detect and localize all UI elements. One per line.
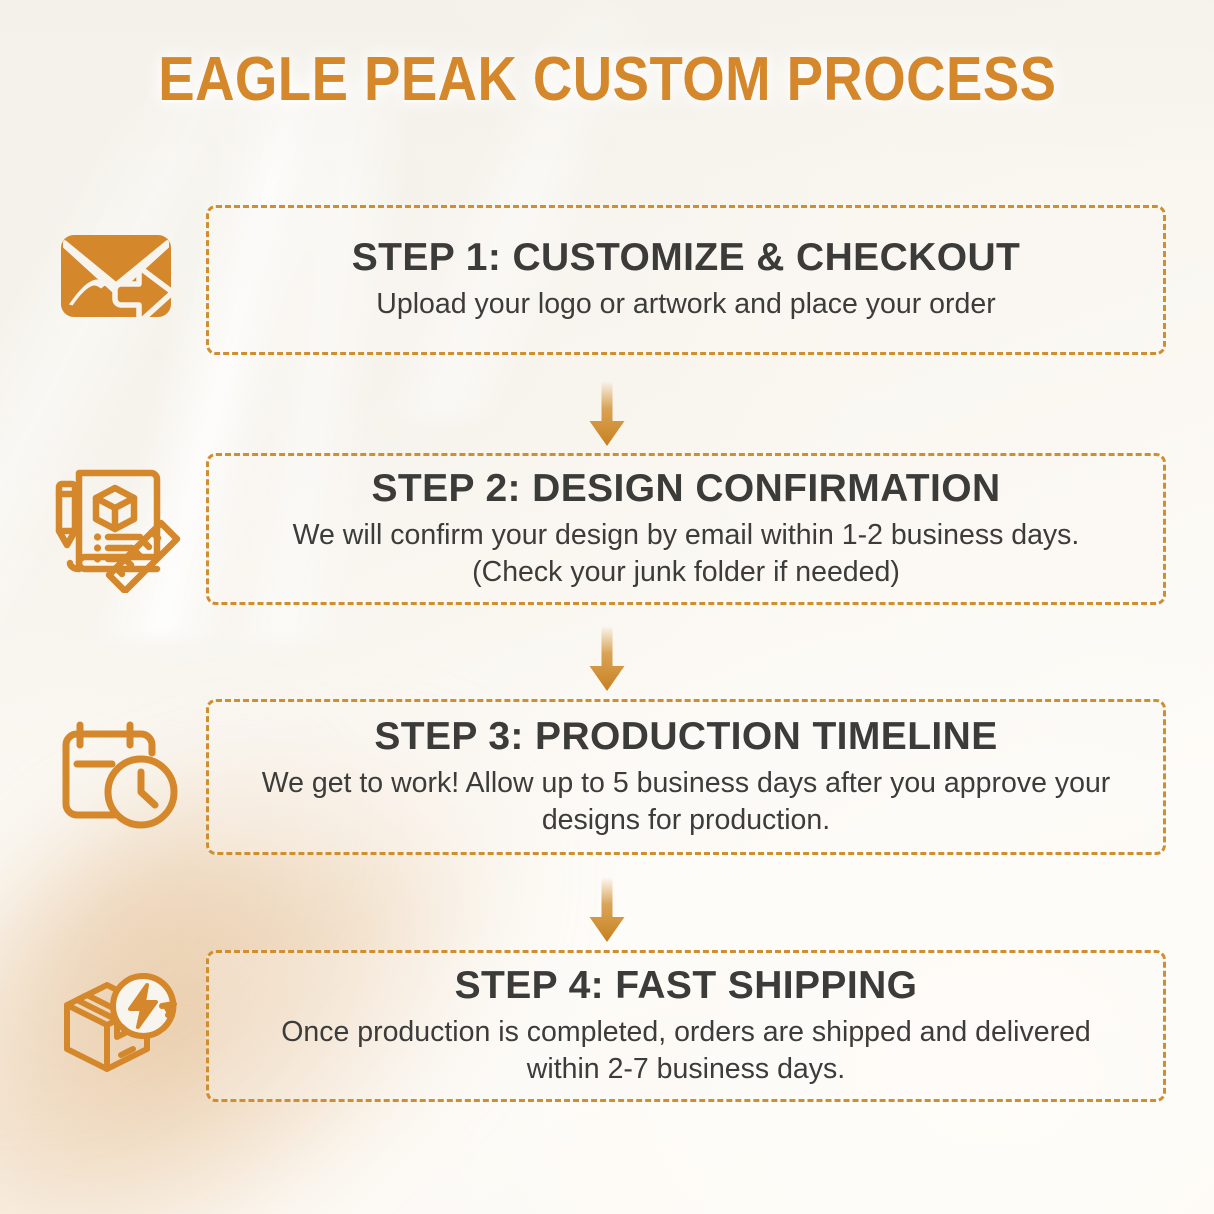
arrow-step3-to-step4 bbox=[0, 877, 1214, 943]
title-container: EAGLE PEAK CUSTOM PROCESS bbox=[0, 44, 1214, 115]
step-2-heading: STEP 2: DESIGN CONFIRMATION bbox=[371, 468, 1000, 510]
step-4-box[interactable]: STEP 4: FAST SHIPPING Once production is… bbox=[206, 950, 1166, 1102]
step-3-box[interactable]: STEP 3: PRODUCTION TIMELINE We get to wo… bbox=[206, 699, 1166, 855]
step-1-box[interactable]: STEP 1: CUSTOMIZE & CHECKOUT Upload your… bbox=[206, 205, 1166, 355]
envelope-send-icon bbox=[53, 226, 179, 335]
step-2-icon-slot bbox=[38, 461, 194, 597]
design-document-icon bbox=[48, 461, 184, 598]
step-4-heading: STEP 4: FAST SHIPPING bbox=[455, 965, 918, 1007]
process-steps-list: STEP 1: CUSTOMIZE & CHECKOUT Upload your… bbox=[0, 0, 1214, 1214]
step-4-icon-slot bbox=[38, 970, 194, 1086]
arrow-step1-to-step2 bbox=[0, 381, 1214, 447]
calendar-clock-icon bbox=[52, 718, 180, 837]
step-3-icon-slot bbox=[38, 715, 194, 839]
step-3-heading: STEP 3: PRODUCTION TIMELINE bbox=[374, 716, 997, 758]
step-1-heading: STEP 1: CUSTOMIZE & CHECKOUT bbox=[352, 237, 1021, 279]
page-title: EAGLE PEAK CUSTOM PROCESS bbox=[158, 44, 1056, 115]
step-3-description: We get to work! Allow up to 5 business d… bbox=[246, 765, 1126, 837]
step-1-icon-slot bbox=[38, 221, 194, 339]
arrow-step2-to-step3 bbox=[0, 626, 1214, 692]
fast-shipping-box-icon bbox=[55, 971, 177, 1086]
step-2-description: We will confirm your design by email wit… bbox=[246, 517, 1126, 589]
step-2-box[interactable]: STEP 2: DESIGN CONFIRMATION We will conf… bbox=[206, 453, 1166, 605]
step-1-description: Upload your logo or artwork and place yo… bbox=[376, 286, 995, 322]
step-4-description: Once production is completed, orders are… bbox=[246, 1014, 1126, 1086]
